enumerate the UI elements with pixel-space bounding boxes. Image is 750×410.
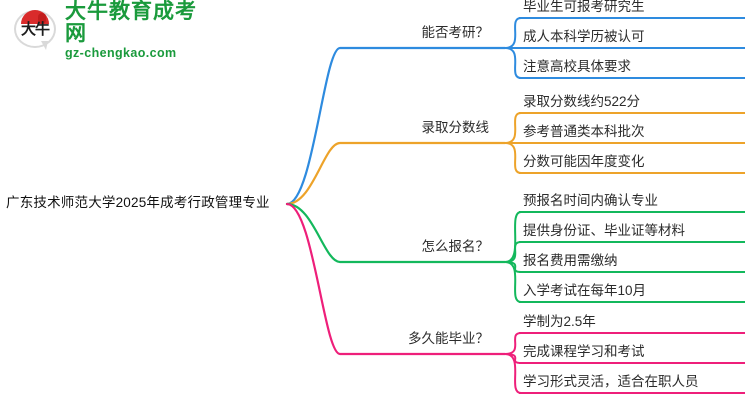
mindmap-leaf-label-2-2[interactable]: 参考普通类本科批次 bbox=[523, 123, 645, 141]
mindmap-leaf-label-1-3[interactable]: 注意高校具体要求 bbox=[523, 58, 631, 76]
mindmap-root-label: 广东技术师范大学2025年成考行政管理专业 bbox=[6, 194, 270, 212]
mindmap-leaf-label-4-2[interactable]: 完成课程学习和考试 bbox=[523, 343, 645, 361]
mindmap-leaf-label-4-3[interactable]: 学习形式灵活，适合在职人员 bbox=[523, 373, 699, 391]
mindmap-branch-label-3[interactable]: 怎么报名？ bbox=[0, 238, 497, 256]
mindmap-leaf-label-3-2[interactable]: 提供身份证、毕业证等材料 bbox=[523, 222, 685, 240]
mindmap-branch-label-1[interactable]: 能否考研？ bbox=[0, 24, 497, 42]
mindmap-leaf-label-2-1[interactable]: 录取分数线约522分 bbox=[523, 93, 640, 111]
mindmap-branch-label-4[interactable]: 多久能毕业？ bbox=[0, 330, 497, 348]
mindmap-leaf-label-1-2[interactable]: 成人本科学历被认可 bbox=[523, 28, 645, 46]
mindmap-branch-label-2[interactable]: 录取分数线 bbox=[0, 119, 497, 137]
mindmap-leaf-label-3-3[interactable]: 报名费用需缴纳 bbox=[523, 252, 618, 270]
mindmap-canvas: 广东技术师范大学2025年成考行政管理专业能否考研？毕业生可报考研究生成人本科学… bbox=[0, 0, 750, 410]
mindmap-leaf-label-2-3[interactable]: 分数可能因年度变化 bbox=[523, 153, 645, 171]
mindmap-leaf-label-3-1[interactable]: 预报名时间内确认专业 bbox=[523, 192, 658, 210]
mindmap-leaf-label-3-4[interactable]: 入学考试在每年10月 bbox=[523, 282, 646, 300]
mindmap-leaf-label-4-1[interactable]: 学制为2.5年 bbox=[523, 313, 596, 331]
mindmap-leaf-label-1-1[interactable]: 毕业生可报考研究生 bbox=[523, 0, 645, 16]
